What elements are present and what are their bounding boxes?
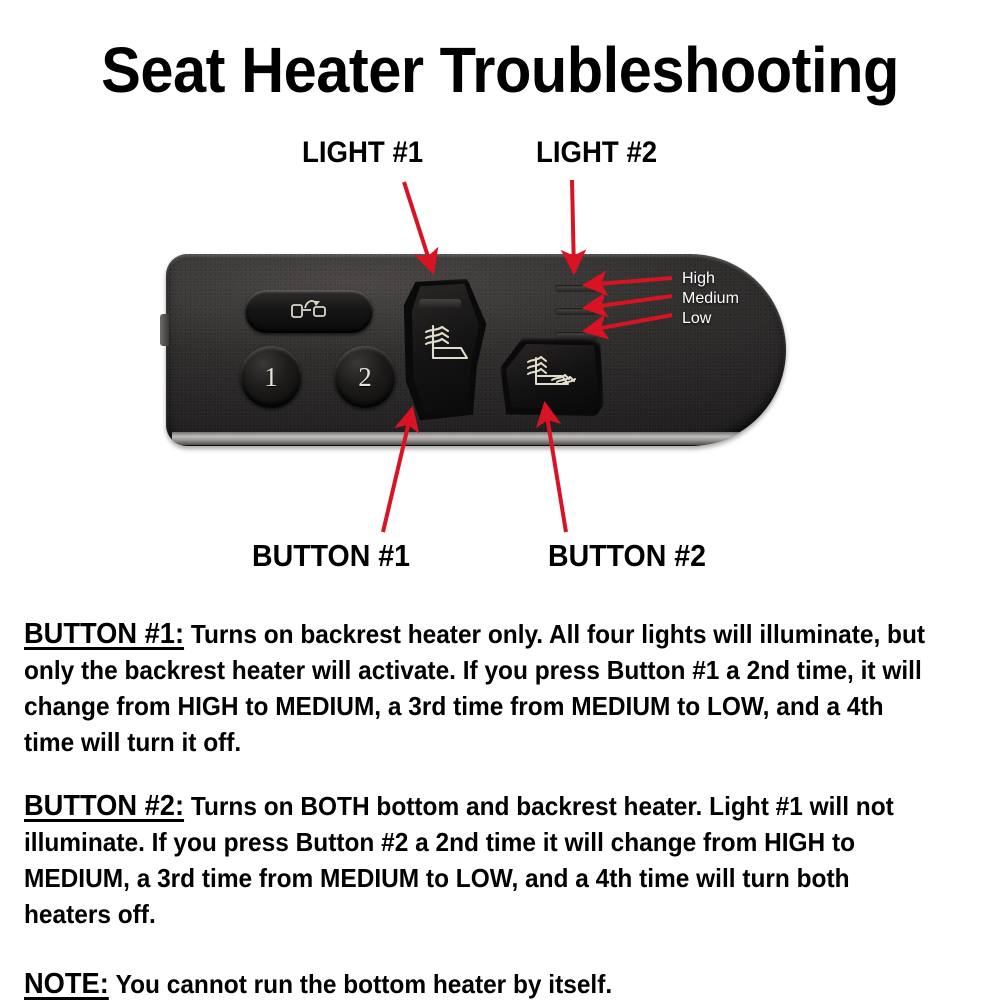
led-slot-medium: [555, 308, 598, 315]
paragraph-button-2: BUTTON #2: Turns on BOTH bottom and back…: [24, 788, 926, 932]
callout-label-light-1: LIGHT #1: [302, 136, 423, 170]
seat-full-heat-icon: [520, 350, 584, 403]
callout-label-light-2: LIGHT #2: [536, 136, 657, 170]
led-slot-low: [555, 332, 598, 339]
memory-button-2-label: 2: [358, 362, 372, 393]
led-label-high: High: [682, 270, 715, 288]
led-slot-high: [555, 285, 598, 292]
both-heater-button[interactable]: [506, 342, 598, 410]
seat-backrest-heat-icon: [417, 310, 479, 387]
body-copy: BUTTON #1: Turns on backrest heater only…: [24, 616, 926, 1002]
memory-set-button[interactable]: [245, 290, 373, 333]
panel-chrome-lip: [172, 432, 772, 445]
panel-side-tab: [160, 314, 169, 346]
paragraph-note-lead: NOTE:: [24, 968, 109, 1000]
paragraph-button-1: BUTTON #1: Turns on backrest heater only…: [24, 616, 926, 760]
backrest-button-notch: [419, 299, 461, 308]
paragraph-button-1-lead: BUTTON #1:: [24, 618, 184, 650]
callout-label-button-2: BUTTON #2: [548, 538, 706, 574]
memory-button-1[interactable]: 1: [240, 346, 302, 408]
memory-button-2[interactable]: 2: [334, 346, 396, 408]
callout-label-button-1: BUTTON #1: [252, 538, 410, 574]
paragraph-note-text: You cannot run the bottom heater by itse…: [116, 969, 613, 999]
led-label-medium: Medium: [682, 290, 739, 308]
led-label-low: Low: [682, 310, 711, 328]
paragraph-note: NOTE: You cannot run the bottom heater b…: [24, 966, 926, 1002]
page-title: Seat Heater Troubleshooting: [35, 38, 965, 102]
paragraph-button-2-lead: BUTTON #2:: [24, 790, 184, 822]
memory-button-1-label: 1: [264, 362, 278, 393]
seat-memory-icon: [287, 296, 331, 327]
